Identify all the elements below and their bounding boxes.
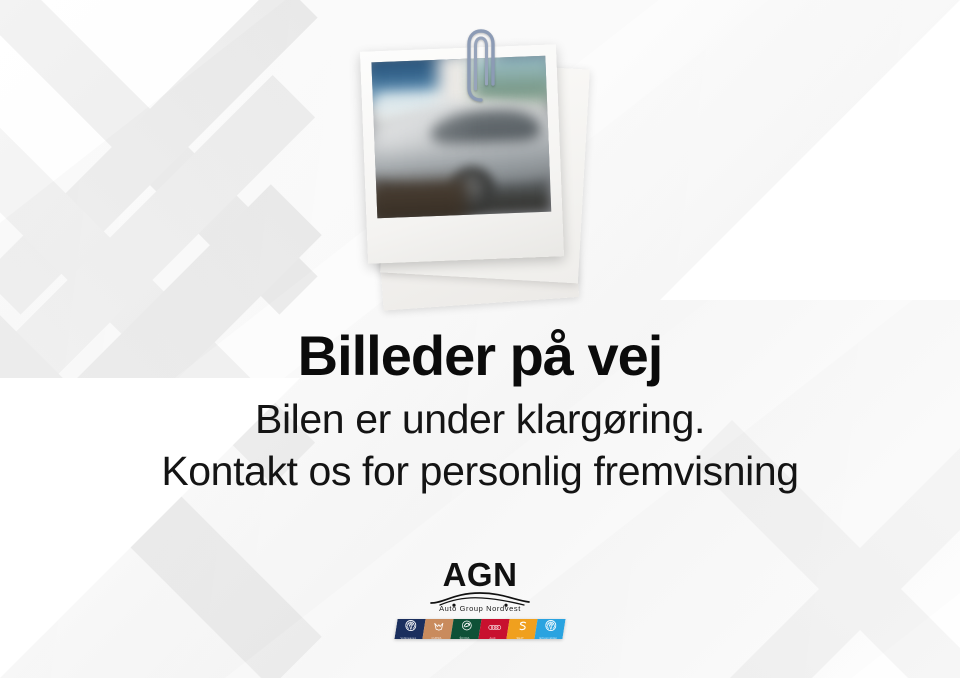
polaroid-front-frame [360,44,564,263]
logo-wordmark: AGN [443,558,518,591]
brand-tile-volkswagen: Volkswagen [394,619,425,639]
polaroid-caption-area [378,219,553,256]
brand-tile-label: SEAT [517,637,524,639]
polaroid-stack [352,30,592,310]
brand-tile-seat: SEAT [506,619,537,639]
brand-tile-volkswagen-erhvervsbiler: Erhvervsbiler [534,619,565,639]
vw-logo-icon [545,619,556,636]
corner-wedge [660,0,960,300]
brand-tile-skoda: ŠKODA [450,619,481,639]
brand-tile-label: Audi [489,637,495,639]
brand-tile-cupra: CUPRA [422,619,453,639]
seat-logo-icon [518,619,527,636]
audi-logo-icon [488,619,501,636]
promo-placeholder-image: Billeder på vej Bilen er under klargørin… [0,0,960,678]
skoda-logo-icon [461,619,472,636]
cupra-logo-icon [433,619,444,636]
page-title: Billeder på vej [0,328,960,384]
brand-tile-label: Volkswagen [401,637,417,639]
photo-ground [371,179,467,218]
agn-logo: AGN Auto Group Nordvest [0,558,960,613]
photo-highlight [373,106,548,153]
vw-logo-icon [405,619,416,636]
paperclip-icon [464,26,498,104]
subtitle-line-1: Bilen er under klargøring. [0,398,960,441]
brand-logo-bar: VolkswagenCUPRAŠKODAAudiSEATErhvervsbile… [394,619,565,639]
car-photo-thumbnail [371,56,551,219]
brand-tile-audi: Audi [478,619,509,639]
brand-tile-label: CUPRA [431,637,441,639]
brand-tile-label: ŠKODA [459,637,469,639]
logo-tagline: Auto Group Nordvest [439,604,521,613]
brand-tile-label: Erhvervsbiler [540,637,558,639]
subtitle-line-2: Kontakt os for personlig fremvisning [0,450,960,493]
